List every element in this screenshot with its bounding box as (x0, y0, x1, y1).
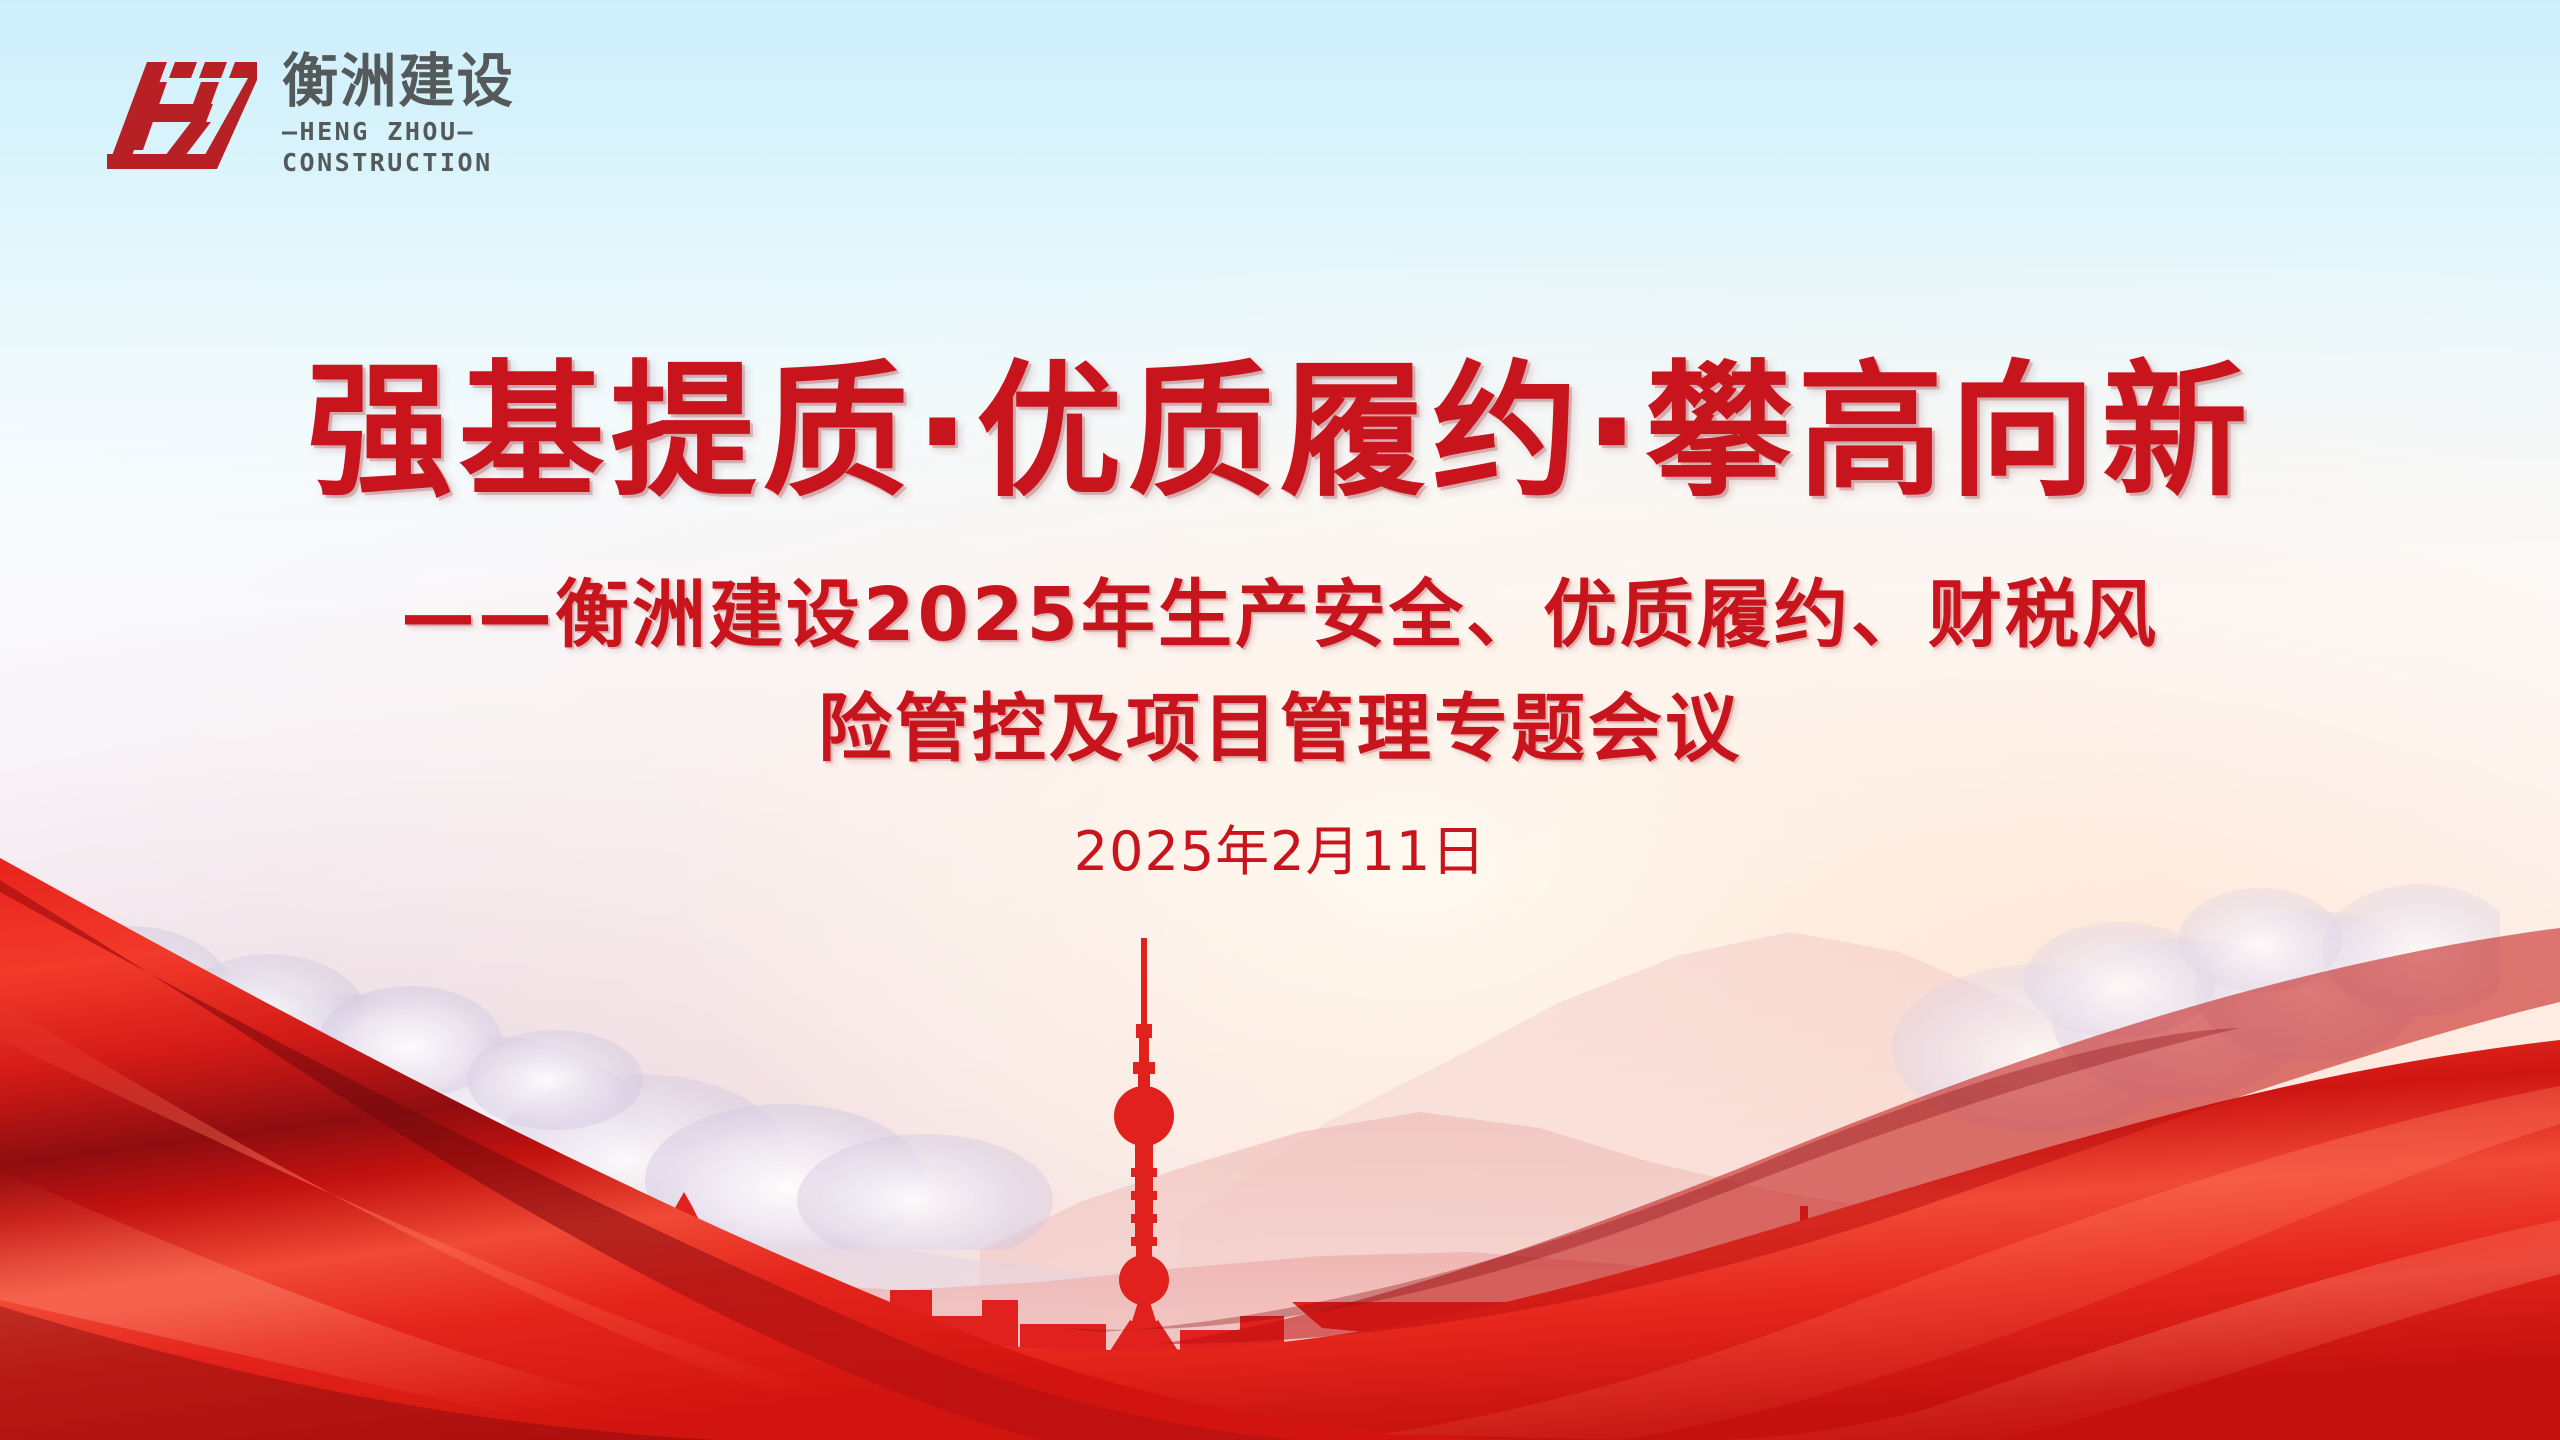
logo-pinyin-line: —HENG ZHOU— (282, 117, 522, 148)
city-skyline-silhouette (0, 920, 2560, 1440)
logo-chinese-name: 衡洲建设 (282, 52, 515, 110)
logo-english-line: CONSTRUCTION (282, 148, 522, 179)
hengzhou-monogram-icon (105, 58, 260, 173)
logo-wordmark: 衡洲建设 —HENG ZHOU— CONSTRUCTION (282, 52, 522, 178)
poster-canvas: 衡洲建设 —HENG ZHOU— CONSTRUCTION 强基提质·优质履约·… (0, 0, 2560, 1440)
company-logo: 衡洲建设 —HENG ZHOU— CONSTRUCTION (105, 52, 522, 178)
